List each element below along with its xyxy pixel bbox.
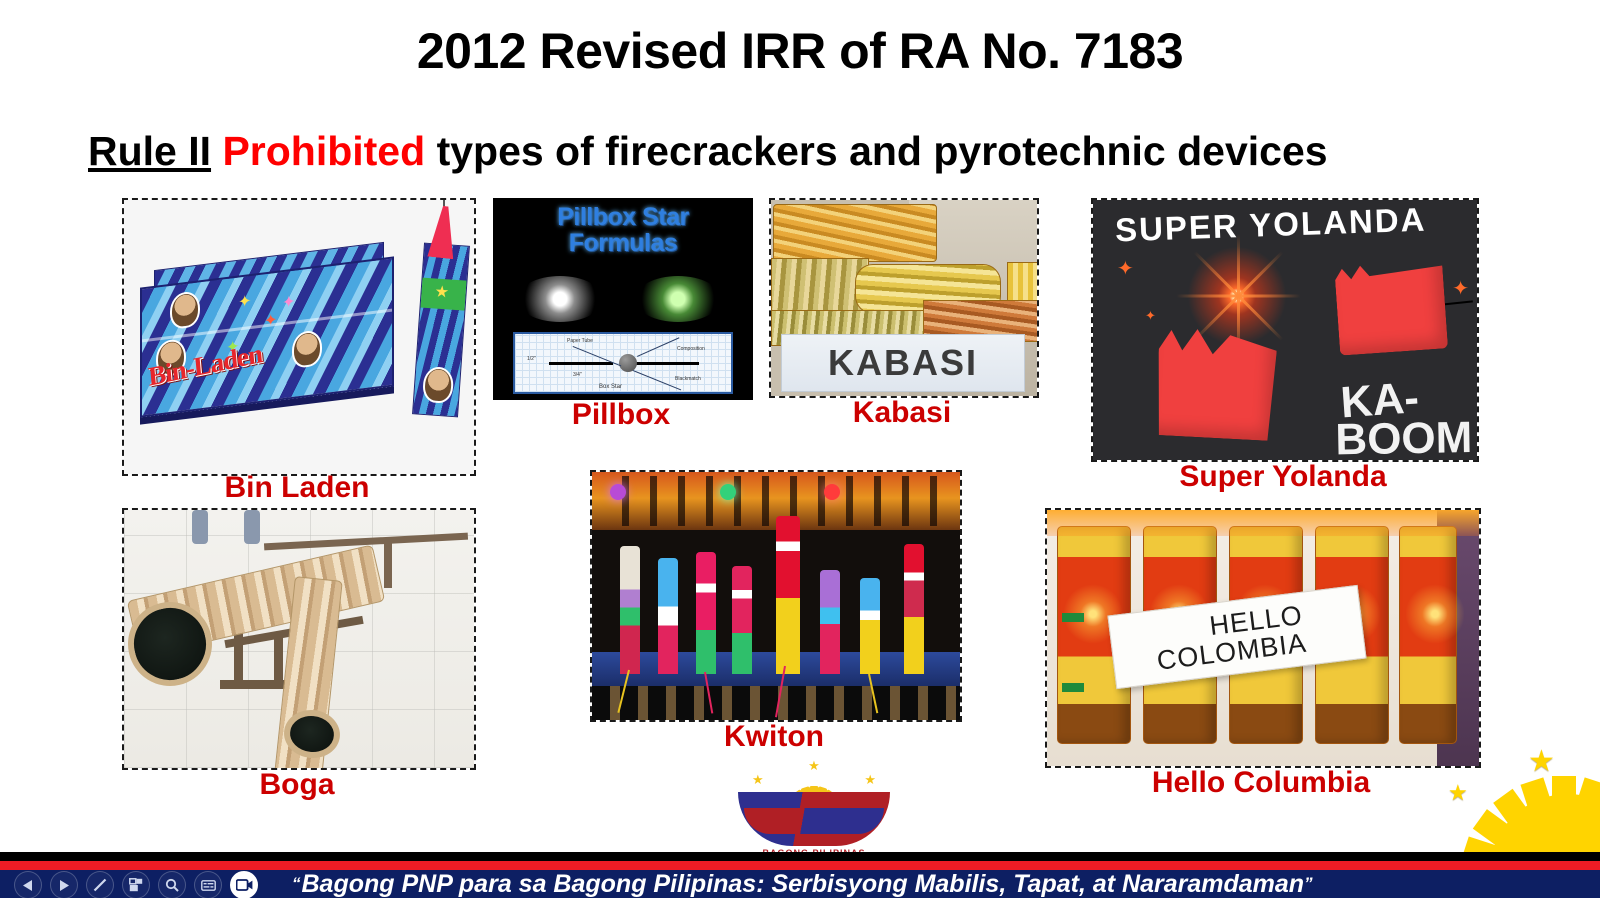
slide-subtitle: Rule II Prohibited types of firecrackers…	[88, 128, 1518, 175]
open-quote-mark: “	[292, 874, 301, 894]
kwiton-photo	[592, 472, 960, 720]
corner-star-icon-2: ★	[1448, 780, 1468, 806]
tagline-text: Bagong PNP para sa Bagong Pilipinas: Ser…	[302, 870, 1305, 898]
caption-kwiton: Kwiton	[590, 722, 958, 752]
image-bin-laden[interactable]: ★ ✦ ✦ ✦ ✦ Bin-Laden	[122, 198, 476, 476]
hello-columbia-photo: HELLO COLOMBIA	[1047, 510, 1479, 766]
slide-layout-icon[interactable]	[122, 871, 150, 898]
caption-pillbox: Pillbox	[493, 400, 749, 430]
corner-star-icon-1: ★	[1528, 744, 1555, 779]
prohibited-label: Prohibited	[222, 128, 425, 174]
subtitle-rest: types of firecrackers and pyrotechnic de…	[437, 128, 1328, 174]
pillbox-white-burst	[517, 276, 603, 322]
image-super-yolanda[interactable]: ✦ ✦ ✦ SUPER YOLANDA KA- BOOM	[1091, 198, 1479, 462]
page-title: 2012 Revised IRR of RA No. 7183	[0, 22, 1600, 80]
image-kwiton[interactable]	[590, 470, 962, 722]
super-yolanda-photo: ✦ ✦ ✦ SUPER YOLANDA KA- BOOM	[1093, 200, 1477, 460]
image-kabasi[interactable]: KABASI	[769, 198, 1039, 398]
next-slide-icon[interactable]	[50, 871, 78, 898]
pillbox-title-text: Pillbox Star Formulas	[495, 204, 751, 257]
pillbox-diagram: Paper Tube Composition Blackmatch Box St…	[513, 332, 733, 394]
close-quote-mark: ”	[1304, 874, 1313, 894]
image-boga[interactable]	[122, 508, 476, 770]
bin-laden-photo: ★ ✦ ✦ ✦ ✦ Bin-Laden	[124, 200, 474, 474]
super-yolanda-cracker-top	[1334, 256, 1448, 355]
tagline-quote: “Bagong PNP para sa Bagong Pilipinas: Se…	[292, 870, 1314, 898]
boga-photo	[124, 510, 474, 768]
zoom-icon[interactable]	[158, 871, 186, 898]
caption-super-yolanda: Super Yolanda	[1091, 462, 1475, 492]
bin-laden-tube: ★	[412, 243, 470, 418]
pen-icon[interactable]	[86, 871, 114, 898]
logo-bowl-shape	[738, 792, 890, 846]
kabasi-sign: KABASI	[781, 334, 1025, 392]
super-yolanda-title-text: SUPER YOLANDA	[1114, 201, 1427, 250]
caption-bin-laden: Bin Laden	[122, 472, 472, 504]
super-yolanda-kaboom-text: KA- BOOM	[1340, 374, 1474, 460]
hello-columbia-sign-line2: COLOMBIA	[1155, 629, 1308, 675]
kabasi-sign-text: KABASI	[828, 342, 978, 384]
subtitles-icon[interactable]	[194, 871, 222, 898]
bagong-pilipinas-logo: ★ ★ ★ BAGONG PILIPINAS	[726, 752, 902, 856]
image-hello-columbia[interactable]: HELLO COLOMBIA	[1045, 508, 1481, 768]
presentation-toolbar	[14, 872, 258, 898]
previous-slide-icon[interactable]	[14, 871, 42, 898]
caption-kabasi: Kabasi	[769, 398, 1035, 428]
image-pillbox[interactable]: Pillbox Star Formulas Paper Tube Composi…	[493, 198, 753, 400]
bar-black-strip	[0, 852, 1600, 861]
caption-hello-columbia: Hello Columbia	[1045, 768, 1477, 798]
pillbox-photo: Pillbox Star Formulas Paper Tube Composi…	[495, 200, 751, 398]
kabasi-photo: KABASI	[771, 200, 1037, 396]
pillbox-green-burst	[635, 276, 721, 322]
record-video-icon[interactable]	[230, 871, 258, 898]
slide-canvas: 2012 Revised IRR of RA No. 7183 Rule II …	[0, 0, 1600, 898]
caption-boga: Boga	[122, 770, 472, 800]
rule-label: Rule II	[88, 128, 211, 174]
